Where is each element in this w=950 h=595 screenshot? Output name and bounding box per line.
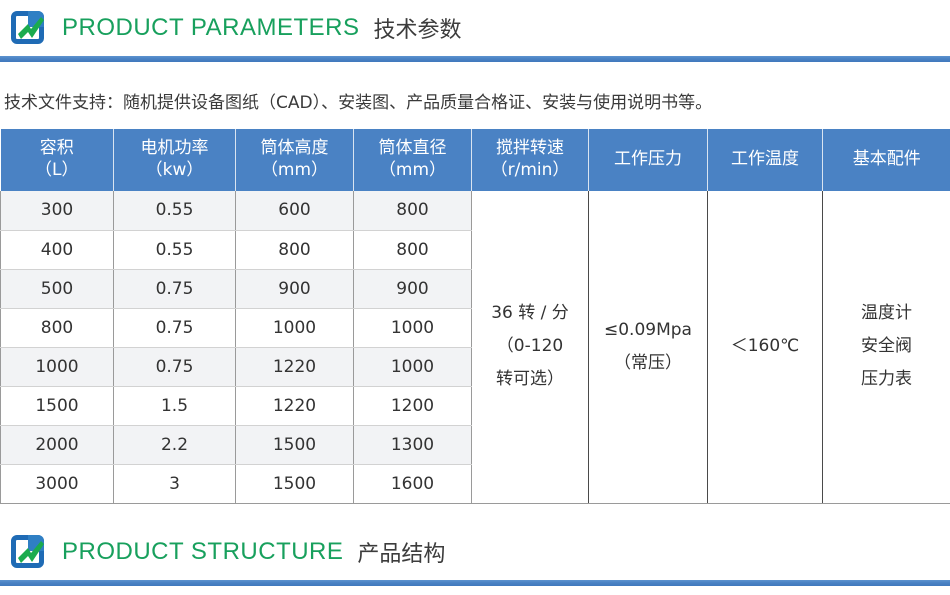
col-header-working-temperature: 工作温度 <box>708 129 823 191</box>
cell-basic-accessories-merged: 温度计 安全阀 压力表 <box>823 191 950 503</box>
cell-power: 2.2 <box>114 425 236 464</box>
cell-volume: 2000 <box>1 425 114 464</box>
cell-height: 1220 <box>236 347 354 386</box>
banner-row-parameters: PRODUCT PARAMETERS 技术参数 <box>0 0 950 56</box>
logo-bolt-icon <box>14 15 46 45</box>
cell-diameter: 1600 <box>354 464 472 503</box>
cell-diameter: 900 <box>354 269 472 308</box>
cell-power: 0.75 <box>114 308 236 347</box>
cell-power: 0.55 <box>114 191 236 230</box>
header-row: 容积 （L） 电机功率 （kw） 筒体高度 （mm） 筒体直径 （mm） 搅拌转… <box>1 129 950 191</box>
temperature-line-1: ＜160℃ <box>710 330 820 363</box>
cell-diameter: 800 <box>354 230 472 269</box>
cell-height: 900 <box>236 269 354 308</box>
cell-height: 800 <box>236 230 354 269</box>
stir-speed-line-3: 转可选） <box>474 363 586 396</box>
cell-diameter: 1300 <box>354 425 472 464</box>
col-header-motor-power: 电机功率 （kw） <box>114 129 236 191</box>
section-parameters-banner: PRODUCT PARAMETERS 技术参数 <box>0 0 950 62</box>
pressure-line-2: （常压） <box>591 347 705 380</box>
accessory-line-1: 温度计 <box>825 297 948 330</box>
header-line-1: 搅拌转速 <box>474 138 586 160</box>
cell-diameter: 1200 <box>354 386 472 425</box>
cell-volume: 1000 <box>1 347 114 386</box>
spec-table-body: 300 0.55 600 800 36 转 / 分 （0-120 转可选） ≤0… <box>1 191 950 503</box>
section-title-en-parameters: PRODUCT PARAMETERS <box>62 14 359 42</box>
section-title-cn-parameters: 技术参数 <box>373 12 461 44</box>
cell-diameter: 1000 <box>354 308 472 347</box>
cell-height: 1500 <box>236 425 354 464</box>
header-line-1: 筒体高度 <box>238 138 351 160</box>
accessory-line-3: 压力表 <box>825 363 948 396</box>
col-header-basic-accessories: 基本配件 <box>823 129 950 191</box>
col-header-volume: 容积 （L） <box>1 129 114 191</box>
section-structure-banner: PRODUCT STRUCTURE 产品结构 <box>0 524 950 586</box>
col-header-barrel-diameter: 筒体直径 （mm） <box>354 129 472 191</box>
cell-volume: 1500 <box>1 386 114 425</box>
pressure-line-1: ≤0.09Mpa <box>591 314 705 347</box>
col-header-working-pressure: 工作压力 <box>589 129 708 191</box>
cell-volume: 400 <box>1 230 114 269</box>
cell-working-temperature-merged: ＜160℃ <box>708 191 823 503</box>
col-header-barrel-height: 筒体高度 （mm） <box>236 129 354 191</box>
section-title-cn-structure: 产品结构 <box>357 536 445 568</box>
cell-power: 3 <box>114 464 236 503</box>
cell-volume: 300 <box>1 191 114 230</box>
brand-logo-icon <box>8 8 48 48</box>
header-line-1: 工作温度 <box>710 149 820 171</box>
header-line-1: 容积 <box>3 138 112 160</box>
section-title-en-structure: PRODUCT STRUCTURE <box>62 538 343 566</box>
stir-speed-line-1: 36 转 / 分 <box>474 297 586 330</box>
header-line-2: （kw） <box>116 160 233 182</box>
cell-diameter: 800 <box>354 191 472 230</box>
header-line-2: （L） <box>3 160 112 182</box>
banner-row-structure: PRODUCT STRUCTURE 产品结构 <box>0 524 950 580</box>
cell-height: 1500 <box>236 464 354 503</box>
cell-height: 600 <box>236 191 354 230</box>
brand-logo-icon <box>8 532 48 572</box>
spec-table-wrap: 容积 （L） 电机功率 （kw） 筒体高度 （mm） 筒体直径 （mm） 搅拌转… <box>0 129 950 504</box>
header-line-2: （mm） <box>356 160 469 182</box>
header-line-1: 电机功率 <box>116 138 233 160</box>
cell-volume: 3000 <box>1 464 114 503</box>
cell-diameter: 1000 <box>354 347 472 386</box>
accessory-line-2: 安全阀 <box>825 330 948 363</box>
col-header-stir-speed: 搅拌转速 （r/min） <box>472 129 589 191</box>
spec-table: 容积 （L） 电机功率 （kw） 筒体高度 （mm） 筒体直径 （mm） 搅拌转… <box>0 129 950 504</box>
banner-divider-parameters <box>0 56 950 62</box>
logo-bolt-icon <box>14 539 46 569</box>
header-line-2: （r/min） <box>474 160 586 182</box>
header-line-1: 筒体直径 <box>356 138 469 160</box>
header-line-2: （mm） <box>238 160 351 182</box>
cell-power: 1.5 <box>114 386 236 425</box>
cell-volume: 500 <box>1 269 114 308</box>
cell-height: 1220 <box>236 386 354 425</box>
cell-volume: 800 <box>1 308 114 347</box>
cell-stir-speed-merged: 36 转 / 分 （0-120 转可选） <box>472 191 589 503</box>
cell-power: 0.75 <box>114 347 236 386</box>
product-parameters-page: PRODUCT PARAMETERS 技术参数 技术文件支持：随机提供设备图纸（… <box>0 0 950 595</box>
header-line-1: 工作压力 <box>591 149 705 171</box>
table-row: 300 0.55 600 800 36 转 / 分 （0-120 转可选） ≤0… <box>1 191 950 230</box>
cell-power: 0.75 <box>114 269 236 308</box>
intro-text: 技术文件支持：随机提供设备图纸（CAD）、安装图、产品质量合格证、安装与使用说明… <box>4 88 950 113</box>
header-line-1: 基本配件 <box>825 149 949 171</box>
cell-power: 0.55 <box>114 230 236 269</box>
cell-height: 1000 <box>236 308 354 347</box>
stir-speed-line-2: （0-120 <box>474 330 586 363</box>
cell-working-pressure-merged: ≤0.09Mpa （常压） <box>589 191 708 503</box>
spec-table-head: 容积 （L） 电机功率 （kw） 筒体高度 （mm） 筒体直径 （mm） 搅拌转… <box>1 129 950 191</box>
banner-divider-structure <box>0 580 950 586</box>
